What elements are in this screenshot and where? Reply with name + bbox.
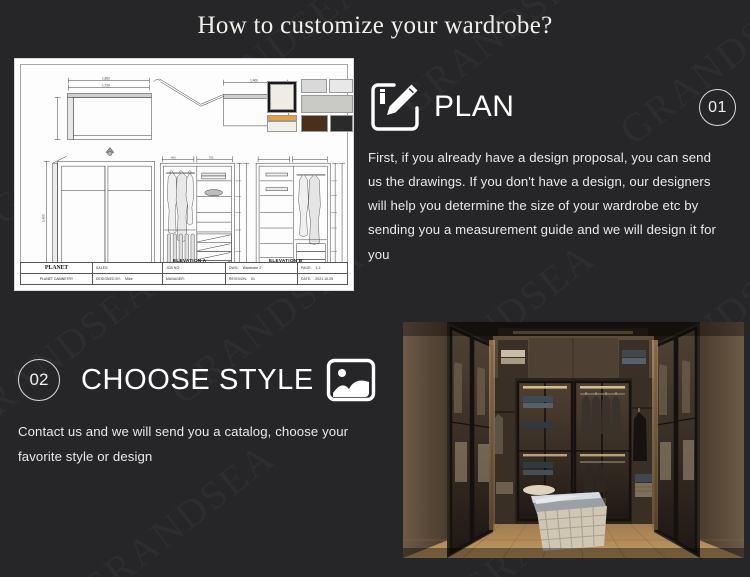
field-job-no: JOB NO: bbox=[163, 263, 226, 273]
walk-in-wardrobe-photo bbox=[403, 322, 744, 558]
field-sales: SALES: bbox=[93, 263, 163, 273]
field-page: PAGE:1-1 bbox=[298, 263, 347, 273]
step-choose-style-description: Contact us and we will send you a catalo… bbox=[18, 420, 390, 470]
field-designed-by: DESIGNED BY:Mike bbox=[93, 274, 163, 284]
bench bbox=[531, 492, 607, 551]
drawing-title-block: PLANET SALES: JOB NO: DWG:Wardrobe 2 PAG… bbox=[20, 262, 348, 285]
field-revision: REVISION:01 bbox=[226, 274, 298, 284]
svg-text:600: 600 bbox=[171, 155, 176, 159]
pencil-edit-icon bbox=[368, 80, 422, 134]
step-plan: PLAN 01 First, if you already have a des… bbox=[368, 78, 740, 267]
wardrobe-interior-illustration bbox=[403, 322, 744, 558]
step-plan-description: First, if you already have a design prop… bbox=[368, 146, 728, 267]
svg-text:1,800: 1,800 bbox=[102, 77, 110, 81]
step-choose-style-title: CHOOSE STYLE bbox=[81, 364, 314, 397]
svg-text:2,400: 2,400 bbox=[42, 214, 46, 222]
svg-text:1,400: 1,400 bbox=[250, 79, 258, 83]
step-number-badge-01: 01 bbox=[699, 89, 736, 126]
svg-text:700: 700 bbox=[209, 155, 214, 159]
cad-drawing-frame: 1,800 1,720 bbox=[20, 64, 348, 285]
title-block-row: PLANET SALES: JOB NO: DWG:Wardrobe 2 PAG… bbox=[21, 263, 347, 274]
image-picture-icon bbox=[326, 358, 376, 402]
step-choose-style-header: 02 CHOOSE STYLE bbox=[18, 352, 390, 408]
step-number-badge-02: 02 bbox=[18, 359, 60, 401]
step-plan-title: PLAN bbox=[434, 90, 514, 124]
step-choose-style: 02 CHOOSE STYLE Contact us and we will s… bbox=[18, 352, 390, 470]
svg-text:1,720: 1,720 bbox=[102, 84, 110, 88]
wardrobe-technical-drawing: 1,800 1,720 bbox=[14, 58, 354, 291]
title-block-row: PLANET CABINETRY DESIGNED BY:Mike MANAGE… bbox=[21, 274, 347, 284]
company-sub-name: PLANET CABINETRY bbox=[21, 274, 93, 284]
company-logo: PLANET bbox=[21, 263, 93, 273]
field-manager: MANAGER: bbox=[163, 274, 226, 284]
material-swatch-board bbox=[267, 77, 354, 132]
field-date: DATE:2021.10.25 bbox=[298, 274, 347, 284]
page-title: How to customize your wardrobe? bbox=[0, 12, 750, 40]
field-dwg: DWG:Wardrobe 2 bbox=[226, 263, 298, 273]
step-plan-header: PLAN 01 bbox=[368, 78, 740, 136]
